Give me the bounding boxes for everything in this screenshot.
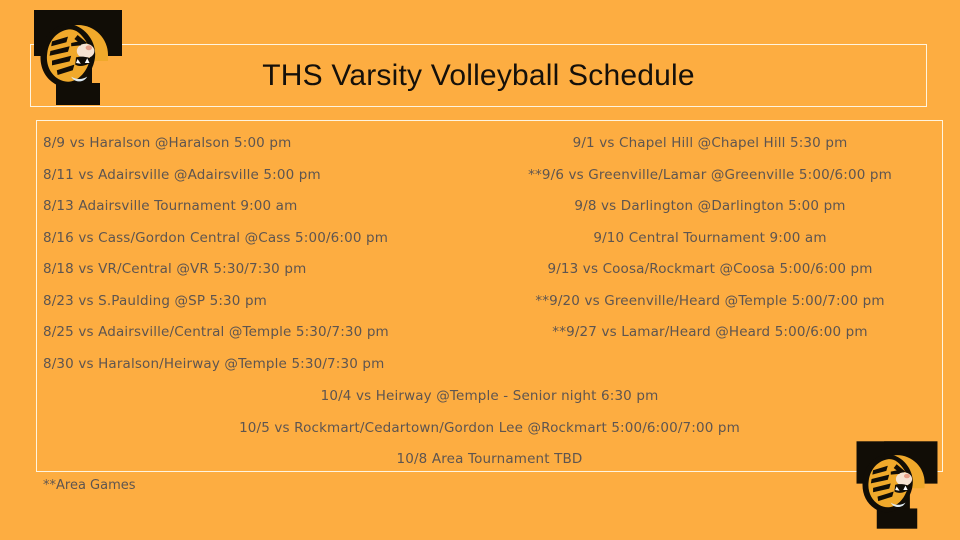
- schedule-row: 8/9 vs Haralson @Haralson 5:00 pm: [43, 128, 473, 160]
- schedule-row: 10/8 Area Tournament TBD: [36, 444, 943, 476]
- schedule-row: 8/13 Adairsville Tournament 9:00 am: [43, 191, 473, 223]
- temple-tigers-t-logo-icon: [28, 5, 128, 110]
- schedule-row: **9/6 vs Greenville/Lamar @Greenville 5:…: [480, 160, 940, 192]
- schedule-right-column: 9/1 vs Chapel Hill @Chapel Hill 5:30 pm …: [480, 128, 940, 349]
- schedule-row: 9/13 vs Coosa/Rockmart @Coosa 5:00/6:00 …: [480, 254, 940, 286]
- schedule-row: 10/4 vs Heirway @Temple - Senior night 6…: [36, 381, 943, 413]
- schedule-bottom-rows: 10/4 vs Heirway @Temple - Senior night 6…: [36, 381, 943, 476]
- schedule-row: 8/23 vs S.Paulding @SP 5:30 pm: [43, 286, 473, 318]
- schedule-row: 8/16 vs Cass/Gordon Central @Cass 5:00/6…: [43, 223, 473, 255]
- schedule-row: 9/8 vs Darlington @Darlington 5:00 pm: [480, 191, 940, 223]
- schedule-row: 8/25 vs Adairsville/Central @Temple 5:30…: [43, 317, 473, 349]
- page-title: THS Varsity Volleyball Schedule: [31, 45, 926, 106]
- temple-tigers-t-logo-icon: [851, 436, 943, 534]
- schedule-row: 9/10 Central Tournament 9:00 am: [480, 223, 940, 255]
- schedule-row: 10/5 vs Rockmart/Cedartown/Gordon Lee @R…: [36, 413, 943, 445]
- schedule-row: 9/1 vs Chapel Hill @Chapel Hill 5:30 pm: [480, 128, 940, 160]
- title-frame: THS Varsity Volleyball Schedule: [30, 44, 927, 107]
- slide-canvas: THS Varsity Volleyball Schedule 8/9 vs H…: [0, 0, 960, 540]
- schedule-row: **9/20 vs Greenville/Heard @Temple 5:00/…: [480, 286, 940, 318]
- area-games-footnote: **Area Games: [43, 478, 136, 493]
- schedule-row: 8/11 vs Adairsville @Adairsville 5:00 pm: [43, 160, 473, 192]
- schedule-row: 8/18 vs VR/Central @VR 5:30/7:30 pm: [43, 254, 473, 286]
- schedule-row: 8/30 vs Haralson/Heirway @Temple 5:30/7:…: [43, 349, 473, 381]
- schedule-left-column: 8/9 vs Haralson @Haralson 5:00 pm 8/11 v…: [43, 128, 473, 380]
- schedule-row: **9/27 vs Lamar/Heard @Heard 5:00/6:00 p…: [480, 317, 940, 349]
